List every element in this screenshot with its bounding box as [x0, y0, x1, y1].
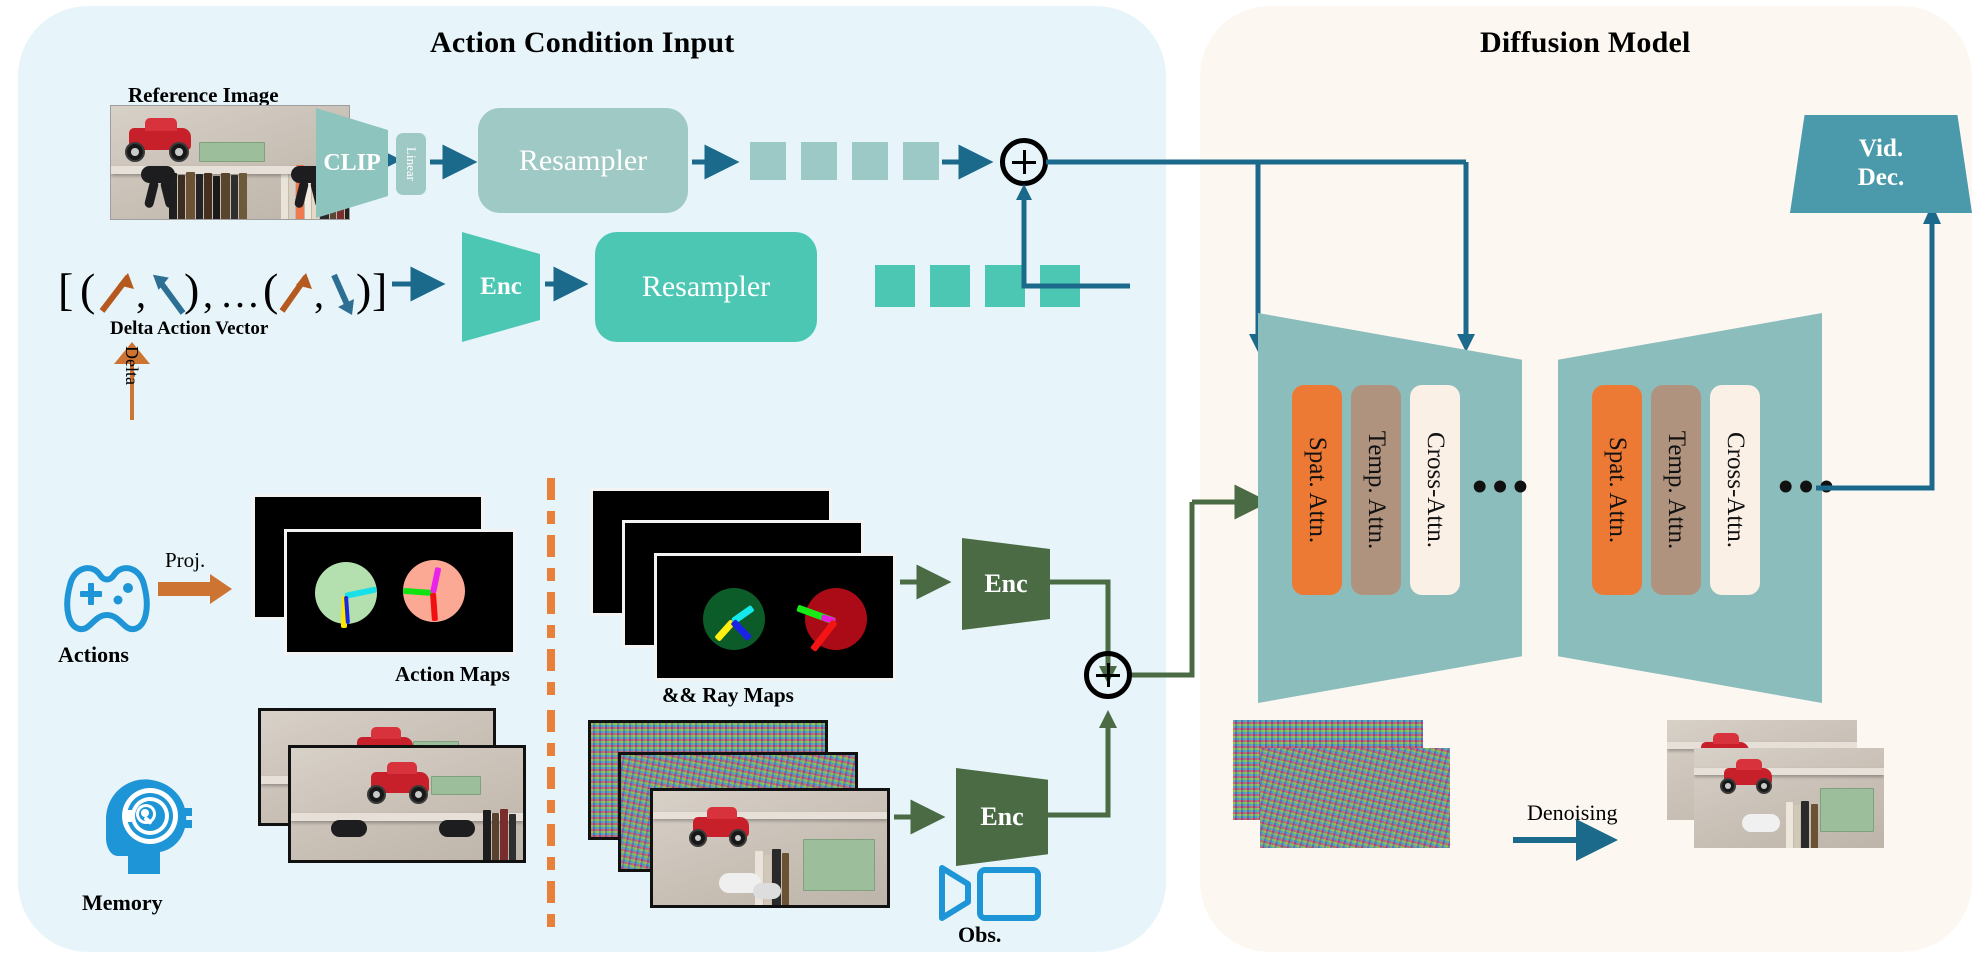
ray-map-frame-front — [654, 553, 896, 681]
panel-title-action-condition-input: Action Condition Input — [430, 26, 735, 60]
svg-text:(: ( — [80, 264, 95, 315]
arrow-proj — [158, 572, 248, 612]
temporal-attention-label: Temp. Attn. — [1662, 431, 1690, 549]
arrow-denoising — [1513, 828, 1643, 854]
svg-text:…: … — [220, 271, 260, 316]
camera-icon — [936, 862, 1046, 924]
svg-text:): ) — [356, 264, 371, 315]
denoising-label: Denoising — [1527, 800, 1617, 826]
plus-node-conditioning — [1000, 138, 1048, 186]
action-token — [930, 265, 970, 307]
arrow-raymaps-to-enc — [900, 570, 970, 594]
reference-image — [110, 105, 350, 220]
image-token — [801, 142, 837, 180]
resampler-action-block: Resampler — [595, 232, 817, 342]
raymaps-encoder-block: Enc — [962, 538, 1050, 630]
gamepad-icon — [52, 555, 162, 640]
linear-label: Linear — [403, 147, 419, 181]
arrow-resampler-to-image-tokens — [692, 150, 748, 174]
action-map-frame-front — [284, 529, 516, 655]
temporal-attention-pill: Temp. Attn. — [1651, 385, 1701, 595]
image-token — [903, 142, 939, 180]
cross-attention-label: Cross-Attn. — [1421, 432, 1449, 548]
enc-raymaps-label: Enc — [962, 538, 1050, 630]
memory-frame-front — [288, 745, 526, 863]
dashed-separator-upper — [547, 478, 555, 698]
resampler-image-label: Resampler — [519, 144, 647, 178]
svg-text:): ) — [184, 264, 199, 315]
svg-text:(: ( — [263, 264, 278, 315]
brain-memory-icon — [88, 770, 198, 882]
actions-label: Actions — [58, 642, 129, 668]
proj-label: Proj. — [165, 548, 205, 573]
resampler-action-label: Resampler — [642, 270, 770, 304]
obs-encoder-block: Enc — [956, 768, 1048, 866]
svg-text:,: , — [136, 271, 146, 316]
svg-text:,: , — [203, 271, 213, 316]
panel-title-diffusion-model: Diffusion Model — [1480, 26, 1691, 60]
dashed-separator-lower — [547, 710, 555, 950]
cross-attention-pill: Cross-Attn. — [1410, 385, 1460, 595]
video-decoder-label-line1: Vid. — [1859, 135, 1903, 164]
diagram-canvas: Action Condition Input Diffusion Model R… — [0, 0, 1988, 980]
svg-text:,: , — [314, 271, 324, 316]
action-token — [985, 265, 1025, 307]
plus-node-latent — [1084, 651, 1132, 699]
cross-attention-pill: Cross-Attn. — [1710, 385, 1760, 595]
video-decoder-block: Vid. Dec. — [1790, 115, 1972, 213]
video-decoder-label-line2: Dec. — [1858, 164, 1905, 193]
svg-text:]: ] — [372, 264, 387, 315]
unet-down-ellipsis: ••• — [1472, 465, 1533, 509]
temporal-attention-pill: Temp. Attn. — [1351, 385, 1401, 595]
enc-obs-label: Enc — [956, 768, 1048, 866]
arrow-enc-to-resampler-action — [545, 272, 601, 296]
arrow-image-tokens-to-plus — [942, 150, 1006, 174]
memory-label: Memory — [82, 890, 163, 916]
spatial-attention-pill: Spat. Attn. — [1592, 385, 1642, 595]
ray-maps-label: && Ray Maps — [662, 683, 794, 708]
obs-frame-front — [650, 788, 890, 908]
denoising-input-frame-front — [1260, 748, 1450, 848]
svg-text:[: [ — [58, 264, 73, 315]
delta-action-vector-label: Delta Action Vector — [110, 318, 268, 340]
action-token — [875, 265, 915, 307]
cross-attention-label: Cross-Attn. — [1721, 432, 1749, 548]
image-token — [750, 142, 786, 180]
resampler-image-block: Resampler — [478, 108, 688, 213]
arrow-plus-to-unet — [1130, 480, 1280, 690]
image-token — [852, 142, 888, 180]
delta-arrow-label: Delta — [121, 346, 142, 385]
action-maps-label: Action Maps — [395, 662, 510, 687]
delta-action-vector-expression: [ ( , ) , … ( , ) ] — [58, 255, 388, 325]
arrow-unet-to-video-decoder — [1816, 200, 1976, 500]
temporal-attention-label: Temp. Attn. — [1362, 431, 1390, 549]
spatial-attention-pill: Spat. Attn. — [1292, 385, 1342, 595]
obs-label: Obs. — [958, 922, 1001, 948]
linear-projection-block: Linear — [396, 133, 426, 195]
arrow-deltavector-to-enc — [392, 272, 462, 296]
denoising-output-frame-front — [1694, 748, 1884, 848]
spatial-attention-label: Spat. Attn. — [1603, 437, 1631, 543]
line-obs-enc-to-plus — [1046, 690, 1166, 820]
arrow-obs-to-enc — [894, 805, 964, 829]
spatial-attention-label: Spat. Attn. — [1303, 437, 1331, 543]
